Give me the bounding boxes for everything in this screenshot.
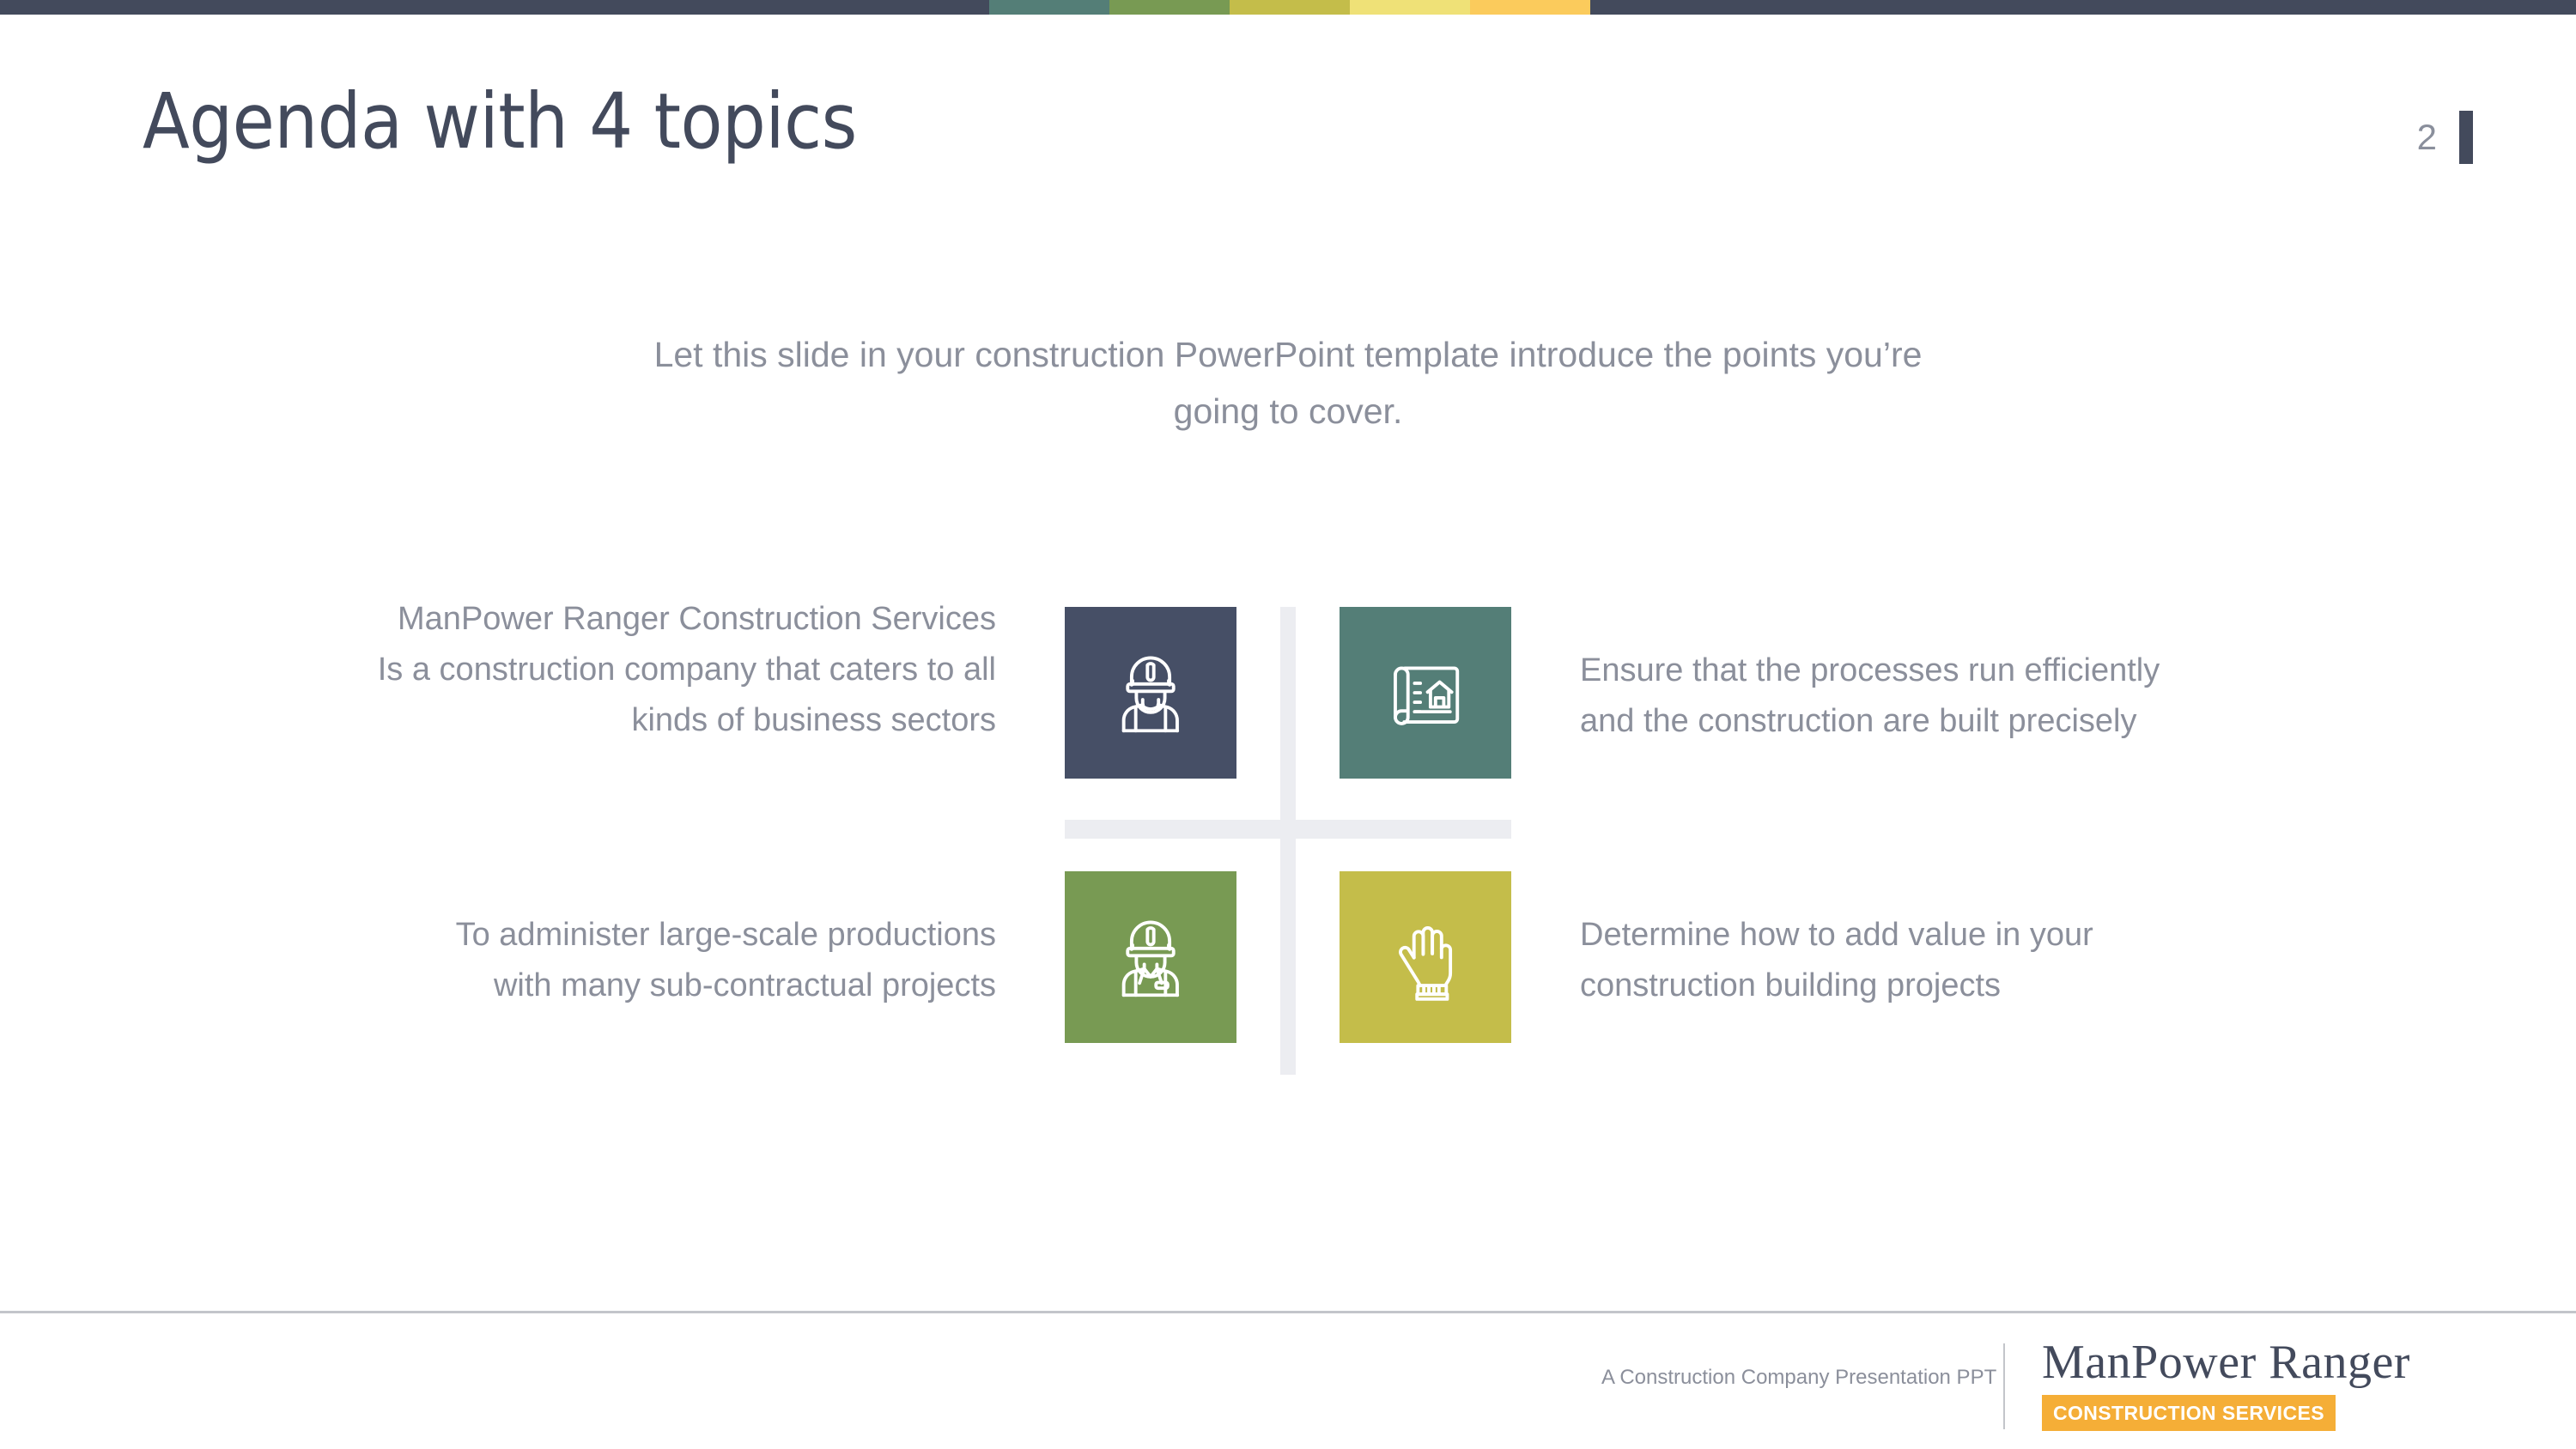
page-title: Agenda with 4 topics bbox=[143, 82, 857, 161]
divider-vertical bbox=[1280, 607, 1296, 1075]
accent-segment-olive bbox=[1230, 0, 1350, 15]
quadrant-tile-bottom-left[interactable] bbox=[1065, 871, 1236, 1043]
accent-segment-lemon bbox=[1350, 0, 1470, 15]
slide-subtitle: Let this slide in your construction Powe… bbox=[653, 326, 1923, 440]
construction-worker-icon bbox=[1100, 642, 1201, 743]
caption-line: Determine how to add value in your bbox=[1580, 910, 2353, 961]
caption-line: Is a construction company that caters to… bbox=[189, 645, 996, 695]
caption-line: ManPower Ranger Construction Services bbox=[189, 594, 996, 645]
quadrant-caption-top-right: Ensure that the processes run efficientl… bbox=[1580, 646, 2353, 747]
divider-horizontal bbox=[1065, 820, 1511, 839]
top-accent-bar bbox=[0, 0, 2576, 15]
brand-logo: ManPower Ranger CONSTRUCTION SERVICES bbox=[2042, 1336, 2410, 1431]
caption-line: and the construction are built precisely bbox=[1580, 696, 2353, 747]
blueprint-icon bbox=[1375, 642, 1476, 743]
quadrant-tile-top-left[interactable] bbox=[1065, 607, 1236, 779]
quadrant-caption-top-left: ManPower Ranger Construction Services Is… bbox=[189, 594, 996, 746]
foreman-icon bbox=[1100, 906, 1201, 1008]
page-number-indicator: 2 bbox=[2417, 112, 2473, 163]
brand-badge: CONSTRUCTION SERVICES bbox=[2042, 1395, 2336, 1431]
quadrant-caption-bottom-left: To administer large-scale productions wi… bbox=[189, 910, 996, 1011]
accent-segment-slate-right bbox=[1590, 0, 2576, 15]
caption-line: with many sub-contractual projects bbox=[189, 961, 996, 1011]
quadrant-tile-top-right[interactable] bbox=[1340, 607, 1511, 779]
caption-line: construction building projects bbox=[1580, 961, 2353, 1011]
accent-segment-teal bbox=[989, 0, 1109, 15]
accent-segment-gold bbox=[1470, 0, 1590, 15]
caption-line: Ensure that the processes run efficientl… bbox=[1580, 646, 2353, 696]
quadrant-tile-bottom-right[interactable] bbox=[1340, 871, 1511, 1043]
quadrant-caption-bottom-right: Determine how to add value in your const… bbox=[1580, 910, 2353, 1011]
page-number: 2 bbox=[2417, 119, 2437, 155]
page-number-bar bbox=[2459, 111, 2473, 164]
subtitle-line-1: Let this slide in your construction Powe… bbox=[654, 335, 1655, 374]
work-glove-icon bbox=[1375, 906, 1476, 1008]
footer-divider-rule bbox=[0, 1311, 2576, 1313]
footer-vertical-separator bbox=[2003, 1343, 2005, 1429]
accent-segment-green bbox=[1109, 0, 1230, 15]
slide-canvas: Agenda with 4 topics 2 Let this slide in… bbox=[0, 0, 2576, 1449]
accent-segment-slate-left bbox=[0, 0, 989, 15]
caption-line: To administer large-scale productions bbox=[189, 910, 996, 961]
agenda-quadrant-diagram: ManPower Ranger Construction Services Is… bbox=[0, 592, 2576, 1090]
footer-note: A Construction Company Presentation PPT bbox=[1601, 1366, 1996, 1390]
caption-line: kinds of business sectors bbox=[189, 695, 996, 746]
brand-name: ManPower Ranger bbox=[2042, 1336, 2410, 1390]
